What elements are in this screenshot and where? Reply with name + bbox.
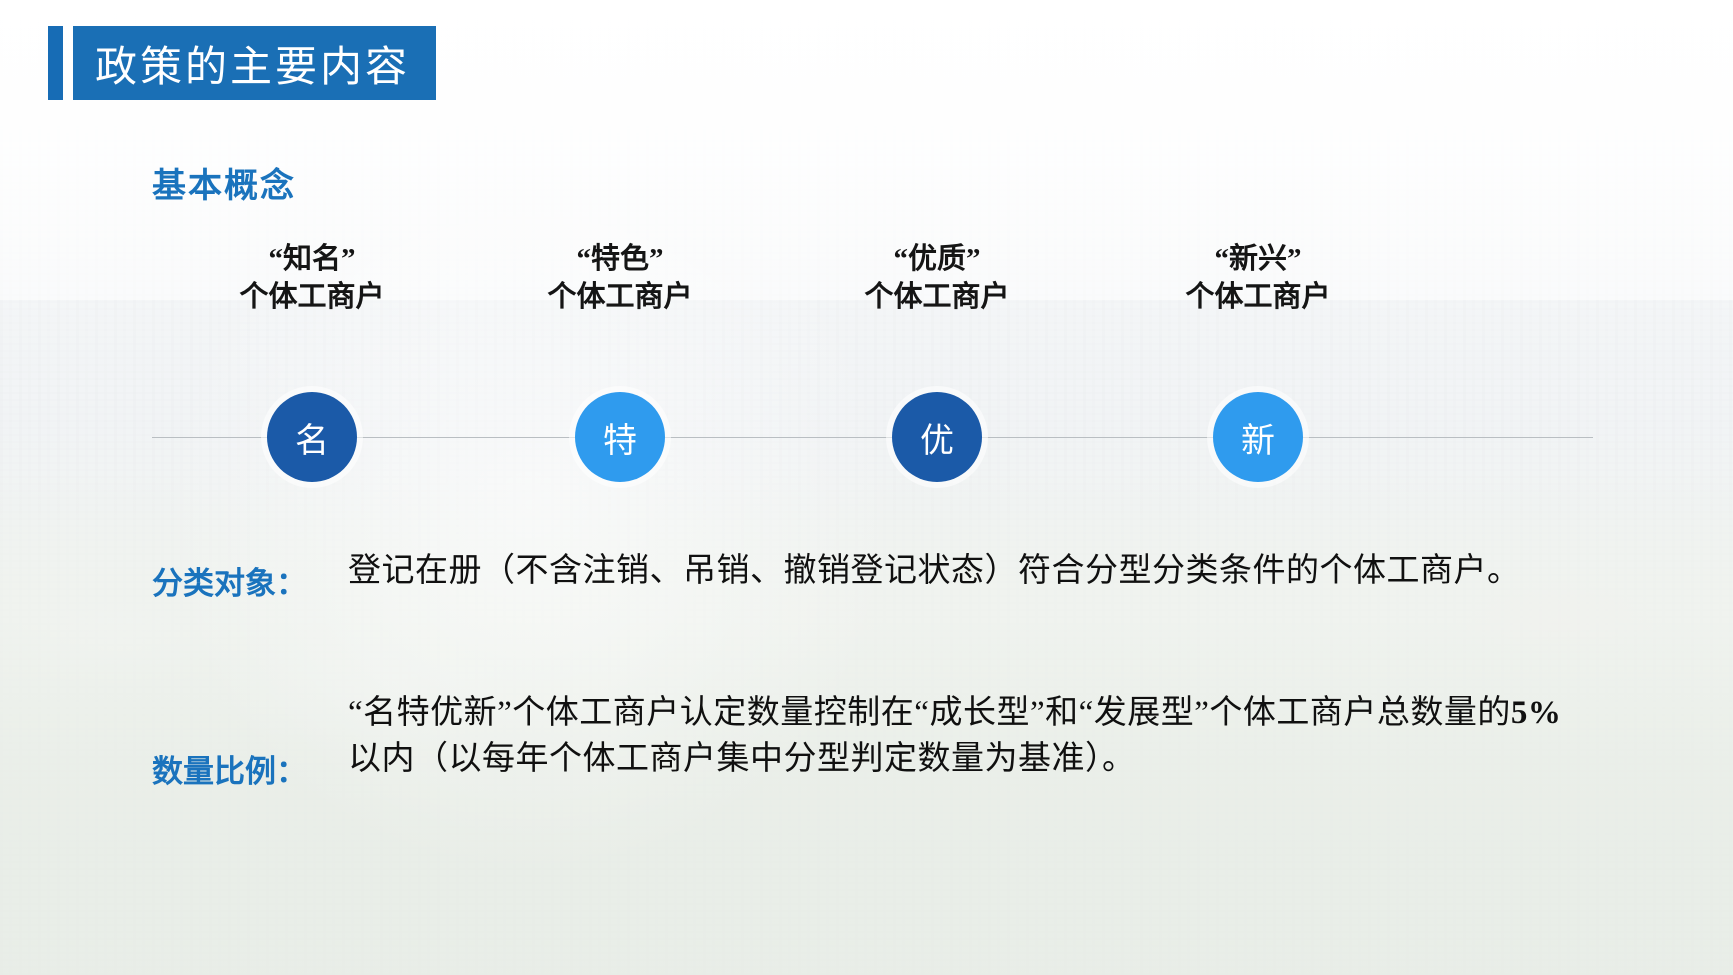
slide-title-banner: 政策的主要内容 bbox=[48, 26, 436, 100]
node-label-line2: 个体工商户 bbox=[787, 278, 1087, 316]
title-tab-gap bbox=[63, 26, 73, 100]
node-label-line1: “知名” bbox=[162, 240, 462, 278]
node-label-line1: “新兴” bbox=[1108, 240, 1408, 278]
section-heading: 基本概念 bbox=[152, 158, 296, 207]
ratio-percent-value: 5% bbox=[1511, 695, 1562, 731]
text-quantity-ratio: “名特优新”个体工商户认定数量控制在“成长型”和“发展型”个体工商户总数量的5%… bbox=[348, 690, 1582, 782]
node-label-line1: “优质” bbox=[787, 240, 1087, 278]
node-label-line2: 个体工商户 bbox=[162, 278, 462, 316]
ratio-text-part2: 以内（以每年个体工商户集中分型判定数量为基准）。 bbox=[348, 741, 1136, 777]
slide-canvas: 政策的主要内容 基本概念 “知名” 个体工商户 名 “特色” 个体工商户 特 “… bbox=[0, 0, 1733, 975]
title-accent-tab bbox=[48, 26, 63, 100]
node-circle-te[interactable]: 特 bbox=[575, 392, 665, 482]
page-title: 政策的主要内容 bbox=[95, 33, 410, 94]
label-classification-object: 分类对象： bbox=[152, 548, 348, 603]
text-classification-object: 登记在册（不含注销、吊销、撤销登记状态）符合分型分类条件的个体工商户。 bbox=[348, 548, 1582, 594]
diagram-node-zhiming[interactable]: “知名” 个体工商户 名 bbox=[162, 240, 462, 316]
node-label-line2: 个体工商户 bbox=[1108, 278, 1408, 316]
paragraph-quantity-ratio: 数量比例： “名特优新”个体工商户认定数量控制在“成长型”和“发展型”个体工商户… bbox=[152, 690, 1582, 791]
diagram-node-youzhi[interactable]: “优质” 个体工商户 优 bbox=[787, 240, 1087, 316]
node-label-line1: “特色” bbox=[470, 240, 770, 278]
ratio-text-part1: “名特优新”个体工商户认定数量控制在“成长型”和“发展型”个体工商户总数量的 bbox=[348, 695, 1511, 731]
node-circle-you[interactable]: 优 bbox=[892, 392, 982, 482]
diagram-node-tese[interactable]: “特色” 个体工商户 特 bbox=[470, 240, 770, 316]
node-label-line2: 个体工商户 bbox=[470, 278, 770, 316]
node-circle-ming[interactable]: 名 bbox=[267, 392, 357, 482]
diagram-node-xinxing[interactable]: “新兴” 个体工商户 新 bbox=[1108, 240, 1408, 316]
node-circle-xin[interactable]: 新 bbox=[1213, 392, 1303, 482]
paragraph-classification-object: 分类对象： 登记在册（不含注销、吊销、撤销登记状态）符合分型分类条件的个体工商户… bbox=[152, 548, 1582, 603]
category-diagram: “知名” 个体工商户 名 “特色” 个体工商户 特 “优质” 个体工商户 优 “… bbox=[0, 240, 1733, 520]
diagram-connector-line bbox=[152, 437, 1593, 438]
label-quantity-ratio: 数量比例： bbox=[152, 690, 348, 791]
title-bar: 政策的主要内容 bbox=[73, 26, 436, 100]
